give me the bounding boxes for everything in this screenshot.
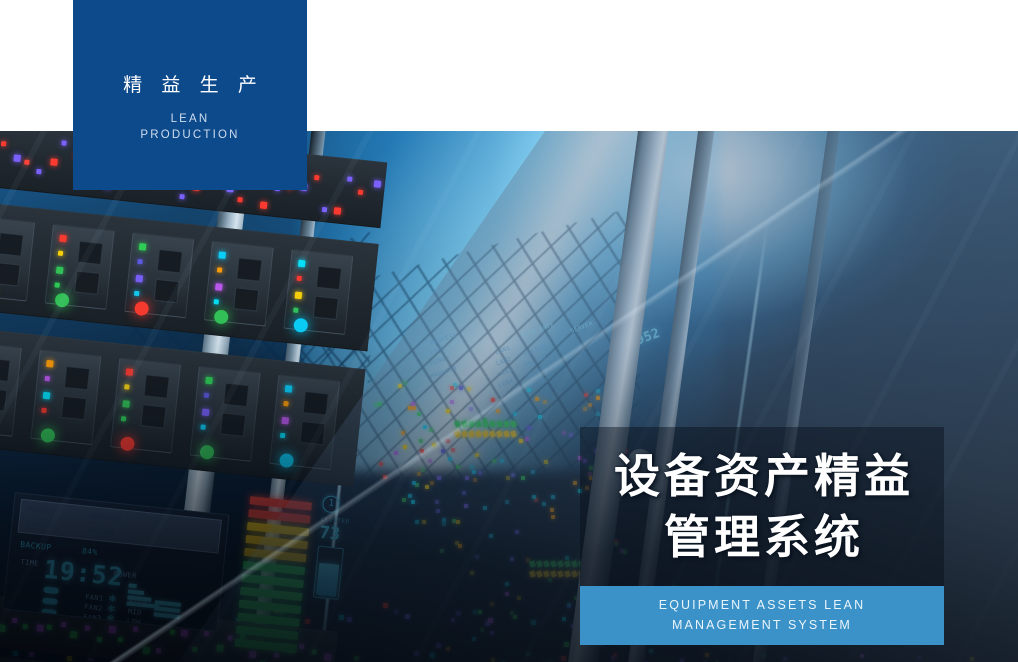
rack-led bbox=[531, 620, 536, 625]
rack-led bbox=[414, 651, 419, 656]
blade-window bbox=[223, 383, 249, 407]
lean-badge-en-line1: LEAN bbox=[140, 111, 239, 127]
panel-led bbox=[109, 626, 117, 634]
panel-led bbox=[54, 282, 59, 287]
rack-led bbox=[478, 471, 482, 475]
panel-led bbox=[298, 260, 306, 268]
panel-led bbox=[358, 190, 363, 195]
blade-window bbox=[144, 374, 170, 398]
panel-led bbox=[56, 266, 64, 274]
rack-led bbox=[403, 445, 407, 449]
rack-led bbox=[411, 500, 415, 504]
rack-led bbox=[506, 476, 510, 480]
panel-led bbox=[126, 368, 134, 376]
rack-led bbox=[543, 400, 547, 404]
rack-led bbox=[419, 439, 423, 443]
rack-led bbox=[402, 498, 406, 502]
rack-led bbox=[596, 389, 600, 393]
panel-led bbox=[124, 384, 129, 389]
rack-led bbox=[379, 462, 383, 466]
blade-window bbox=[154, 279, 180, 303]
rack-led bbox=[491, 658, 495, 662]
hero-title-cn-line2: 管理系统 bbox=[610, 507, 914, 568]
rack-led bbox=[430, 481, 434, 485]
panel-led bbox=[23, 624, 28, 629]
panel-led bbox=[134, 291, 139, 296]
lcd-time-label: TIME bbox=[20, 558, 39, 568]
blade-window bbox=[313, 296, 339, 320]
panel-led bbox=[374, 180, 382, 188]
panel-led bbox=[260, 201, 268, 209]
panel-led bbox=[43, 392, 51, 400]
rack-led bbox=[430, 653, 435, 658]
rack-led bbox=[532, 495, 536, 499]
panel-led bbox=[139, 243, 147, 251]
ladder-segment bbox=[239, 600, 301, 614]
rack-led bbox=[473, 610, 477, 614]
rack-led bbox=[492, 459, 496, 463]
rack-led bbox=[970, 657, 974, 661]
panel-led bbox=[1, 141, 6, 146]
rack-led bbox=[401, 431, 405, 435]
rack-led bbox=[705, 653, 709, 657]
rack-led bbox=[548, 578, 552, 582]
rack-led bbox=[472, 637, 476, 641]
lean-badge-cn-title: 精 益 生 产 bbox=[116, 76, 264, 95]
rack-led bbox=[470, 465, 474, 469]
rack-led bbox=[519, 439, 523, 443]
rack-led bbox=[526, 652, 530, 656]
rack-led bbox=[423, 425, 427, 429]
rack-led bbox=[442, 522, 446, 526]
rack-led bbox=[374, 403, 378, 407]
blade-window bbox=[77, 241, 103, 265]
gauge-cluster-value: 73 bbox=[319, 525, 367, 547]
rack-led bbox=[584, 393, 588, 397]
panel-led bbox=[204, 393, 209, 398]
panel-led bbox=[192, 647, 197, 652]
panel-led bbox=[227, 635, 232, 640]
rack-led bbox=[505, 582, 509, 586]
rack-led bbox=[510, 557, 514, 561]
rack-led bbox=[436, 643, 441, 648]
rack-led bbox=[436, 509, 440, 513]
rack-led bbox=[488, 618, 493, 623]
ladder-segment bbox=[245, 535, 307, 549]
rack-led bbox=[583, 407, 587, 411]
rack-led bbox=[505, 500, 509, 504]
lcd-fan2-label: FAN2 bbox=[84, 603, 103, 613]
rack-led bbox=[354, 656, 359, 661]
panel-led bbox=[97, 637, 102, 642]
panel-led bbox=[156, 648, 161, 653]
panel-led bbox=[59, 235, 67, 243]
rack-led bbox=[450, 400, 454, 404]
poster-canvas: PROCESSLOADPINGMANAGEDDATA RATESERVERBAC… bbox=[0, 0, 1018, 662]
panel-led bbox=[299, 644, 304, 649]
rack-led bbox=[473, 478, 477, 482]
rack-led bbox=[403, 381, 407, 385]
rack-led bbox=[470, 571, 474, 575]
rack-led bbox=[425, 485, 429, 489]
panel-led bbox=[200, 424, 205, 429]
panel-led bbox=[281, 417, 289, 425]
rack-led bbox=[437, 476, 441, 480]
lcd-toggle-2 bbox=[42, 598, 58, 606]
rack-led bbox=[394, 609, 399, 614]
panel-led bbox=[85, 625, 90, 630]
rack-led bbox=[527, 426, 531, 430]
rack-led bbox=[451, 448, 455, 452]
panel-led bbox=[47, 624, 52, 629]
rack-led bbox=[551, 515, 555, 519]
panel-led bbox=[61, 622, 66, 627]
rack-led bbox=[456, 520, 460, 524]
panel-led bbox=[24, 160, 29, 165]
rack-led bbox=[491, 398, 495, 402]
rack-led bbox=[475, 555, 479, 559]
panel-led bbox=[143, 647, 151, 655]
blade-window bbox=[303, 391, 329, 415]
gauge-level-tube bbox=[313, 546, 344, 600]
panel-led bbox=[181, 629, 189, 637]
rack-led bbox=[429, 428, 433, 432]
gauge-index-badge: 1 bbox=[322, 495, 341, 514]
rack-led bbox=[398, 384, 402, 388]
rack-led bbox=[538, 415, 542, 419]
hero-subtitle-band: EQUIPMENT ASSETS LEAN MANAGEMENT SYSTEM bbox=[580, 586, 944, 645]
blade-window bbox=[299, 421, 325, 445]
rack-led bbox=[573, 481, 577, 485]
rack-led bbox=[394, 451, 398, 455]
rack-led bbox=[588, 403, 592, 407]
panel-led bbox=[170, 629, 175, 634]
hero-subtitle-en-line2: MANAGEMENT SYSTEM bbox=[659, 616, 865, 635]
hero-title-box: 设备资产精益 管理系统 bbox=[580, 427, 944, 586]
rack-led bbox=[383, 603, 388, 608]
ladder-segment bbox=[235, 638, 297, 652]
lean-badge-en-line2: PRODUCTION bbox=[140, 127, 239, 143]
rack-led bbox=[411, 402, 415, 406]
rack-led bbox=[464, 504, 468, 508]
panel-led bbox=[122, 400, 130, 408]
blade-window bbox=[74, 271, 100, 295]
ladder-segment bbox=[244, 548, 306, 562]
panel-led bbox=[334, 207, 342, 215]
panel-led bbox=[36, 169, 41, 174]
rack-led bbox=[562, 617, 566, 621]
panel-led bbox=[0, 624, 6, 632]
rack-led bbox=[417, 472, 421, 476]
rack-led bbox=[511, 473, 515, 477]
panel-led bbox=[61, 140, 66, 145]
rack-led bbox=[458, 544, 462, 548]
rack-led bbox=[455, 541, 459, 545]
lcd-toggle-1 bbox=[43, 587, 59, 595]
rack-led bbox=[442, 518, 446, 522]
rack-led bbox=[649, 649, 653, 653]
rack-led bbox=[564, 642, 569, 647]
rack-led bbox=[510, 611, 514, 615]
panel-led bbox=[347, 176, 352, 181]
rack-led bbox=[562, 431, 566, 435]
ladder-segment bbox=[248, 509, 310, 523]
rack-led bbox=[347, 617, 352, 622]
rack-led bbox=[860, 654, 864, 658]
lcd-level-bars bbox=[153, 600, 181, 621]
blade-window bbox=[140, 404, 166, 428]
hero-title-cn-line1: 设备资产精益 bbox=[610, 446, 914, 507]
panel-led bbox=[12, 618, 17, 623]
rack-led bbox=[596, 396, 600, 400]
rack-led bbox=[490, 602, 494, 606]
panel-led bbox=[215, 283, 223, 291]
panel-led bbox=[121, 416, 126, 421]
ladder-segment bbox=[241, 574, 303, 588]
panel-led bbox=[204, 631, 209, 636]
rack-led bbox=[456, 465, 460, 469]
panel-led bbox=[13, 154, 21, 162]
rack-led bbox=[421, 468, 425, 472]
blade-window bbox=[61, 396, 87, 420]
rack-led bbox=[531, 470, 535, 474]
panel-led bbox=[135, 275, 143, 283]
rack-led bbox=[917, 656, 921, 660]
panel-led bbox=[280, 433, 285, 438]
rack-led bbox=[489, 534, 493, 538]
rack-led bbox=[515, 530, 519, 534]
rack-led bbox=[521, 476, 525, 480]
rack-led bbox=[446, 439, 450, 443]
hero-subtitle-en: EQUIPMENT ASSETS LEAN MANAGEMENT SYSTEM bbox=[659, 596, 865, 635]
rack-led bbox=[561, 656, 566, 661]
rack-led bbox=[472, 470, 476, 474]
blade-window bbox=[233, 287, 259, 311]
rack-led bbox=[544, 460, 548, 464]
panel-led bbox=[285, 385, 293, 393]
panel-led bbox=[295, 292, 303, 300]
blade-window bbox=[316, 266, 342, 290]
panel-led bbox=[296, 276, 301, 281]
rack-led bbox=[420, 449, 424, 453]
rack-led bbox=[535, 397, 539, 401]
rack-led bbox=[422, 520, 426, 524]
lcd-backup-label: BACKUP bbox=[20, 540, 52, 552]
rack-led bbox=[405, 614, 410, 619]
ladder-segment bbox=[247, 522, 309, 536]
rack-led bbox=[446, 647, 450, 651]
rack-led bbox=[451, 618, 455, 622]
rack-led bbox=[513, 412, 517, 416]
panel-led bbox=[218, 251, 226, 259]
rack-led bbox=[462, 491, 466, 495]
rack-led bbox=[435, 500, 439, 504]
lcd-speed-mid: MID bbox=[127, 608, 142, 617]
hero-subtitle-en-line1: EQUIPMENT ASSETS LEAN bbox=[659, 596, 865, 615]
lcd-fan1-label: FAN1 bbox=[85, 593, 104, 603]
rack-led bbox=[500, 459, 504, 463]
rack-led bbox=[459, 386, 463, 390]
panel-led bbox=[324, 654, 332, 662]
panel-led bbox=[41, 408, 46, 413]
rack-led bbox=[415, 520, 419, 524]
lcd-backup-value: 84% bbox=[82, 546, 99, 557]
rack-led bbox=[505, 592, 509, 596]
ladder-segment bbox=[243, 561, 305, 575]
lcd-readout-screen: MEMORY 38%/1TB STATUS ONLINE BACKUP 84% … bbox=[2, 492, 229, 632]
rack-led bbox=[525, 437, 529, 441]
rack-led bbox=[490, 631, 494, 635]
rack-led bbox=[496, 409, 500, 413]
ladder-segment bbox=[236, 625, 298, 639]
blade-window bbox=[236, 257, 262, 281]
rack-led bbox=[465, 476, 469, 480]
rack-led bbox=[408, 406, 412, 410]
rack-led bbox=[412, 406, 416, 410]
rack-led bbox=[412, 481, 416, 485]
panel-led bbox=[46, 360, 54, 368]
panel-led bbox=[283, 401, 288, 406]
rack-led bbox=[446, 409, 450, 413]
rack-led bbox=[517, 596, 521, 600]
panel-led bbox=[322, 207, 327, 212]
panel-led bbox=[311, 649, 316, 654]
rack-led bbox=[417, 412, 421, 416]
panel-led bbox=[217, 267, 222, 272]
ladder-segment bbox=[240, 587, 302, 601]
lean-badge-en-title: LEAN PRODUCTION bbox=[140, 111, 239, 144]
lean-production-badge: 精 益 生 产 LEAN PRODUCTION bbox=[73, 0, 307, 190]
rack-led bbox=[428, 459, 432, 463]
rack-led bbox=[550, 508, 554, 512]
blade-window bbox=[0, 232, 24, 256]
panel-led bbox=[133, 626, 138, 631]
blade-window bbox=[157, 249, 183, 273]
rack-led bbox=[450, 386, 454, 390]
rack-led bbox=[456, 611, 461, 616]
rack-led bbox=[513, 615, 517, 619]
ladder-segment bbox=[237, 613, 299, 627]
blade-window bbox=[64, 366, 90, 390]
rack-led bbox=[383, 475, 387, 479]
panel-led bbox=[58, 251, 63, 256]
hero-title-cn: 设备资产精益 管理系统 bbox=[610, 446, 914, 567]
rack-led bbox=[480, 628, 484, 632]
rack-led bbox=[551, 495, 555, 499]
rack-led bbox=[478, 610, 482, 614]
rack-led bbox=[611, 656, 615, 660]
rack-led bbox=[783, 657, 787, 661]
panel-led bbox=[118, 637, 123, 642]
rack-led bbox=[440, 549, 444, 553]
panel-led bbox=[205, 377, 213, 385]
rack-led bbox=[408, 494, 412, 498]
blade-window bbox=[0, 262, 21, 286]
panel-led bbox=[50, 158, 58, 166]
rack-led bbox=[378, 402, 382, 406]
panel-led bbox=[237, 197, 242, 202]
rack-led bbox=[475, 453, 479, 457]
rack-led bbox=[441, 449, 445, 453]
panel-led bbox=[70, 631, 78, 639]
rack-led bbox=[432, 443, 436, 447]
panel-led bbox=[293, 307, 298, 312]
panel-led bbox=[179, 194, 184, 199]
rack-led bbox=[483, 506, 487, 510]
rack-led bbox=[448, 457, 452, 461]
rack-led bbox=[542, 502, 546, 506]
panel-led bbox=[36, 624, 44, 632]
blade-window bbox=[220, 413, 246, 437]
panel-led bbox=[137, 259, 142, 264]
panel-led bbox=[202, 408, 210, 416]
panel-led bbox=[214, 299, 219, 304]
panel-led bbox=[45, 376, 50, 381]
rack-led bbox=[569, 433, 573, 437]
rack-led bbox=[469, 407, 473, 411]
rack-led bbox=[467, 387, 471, 391]
panel-led bbox=[314, 175, 319, 180]
rack-led bbox=[567, 603, 571, 607]
panel-led bbox=[216, 644, 224, 652]
